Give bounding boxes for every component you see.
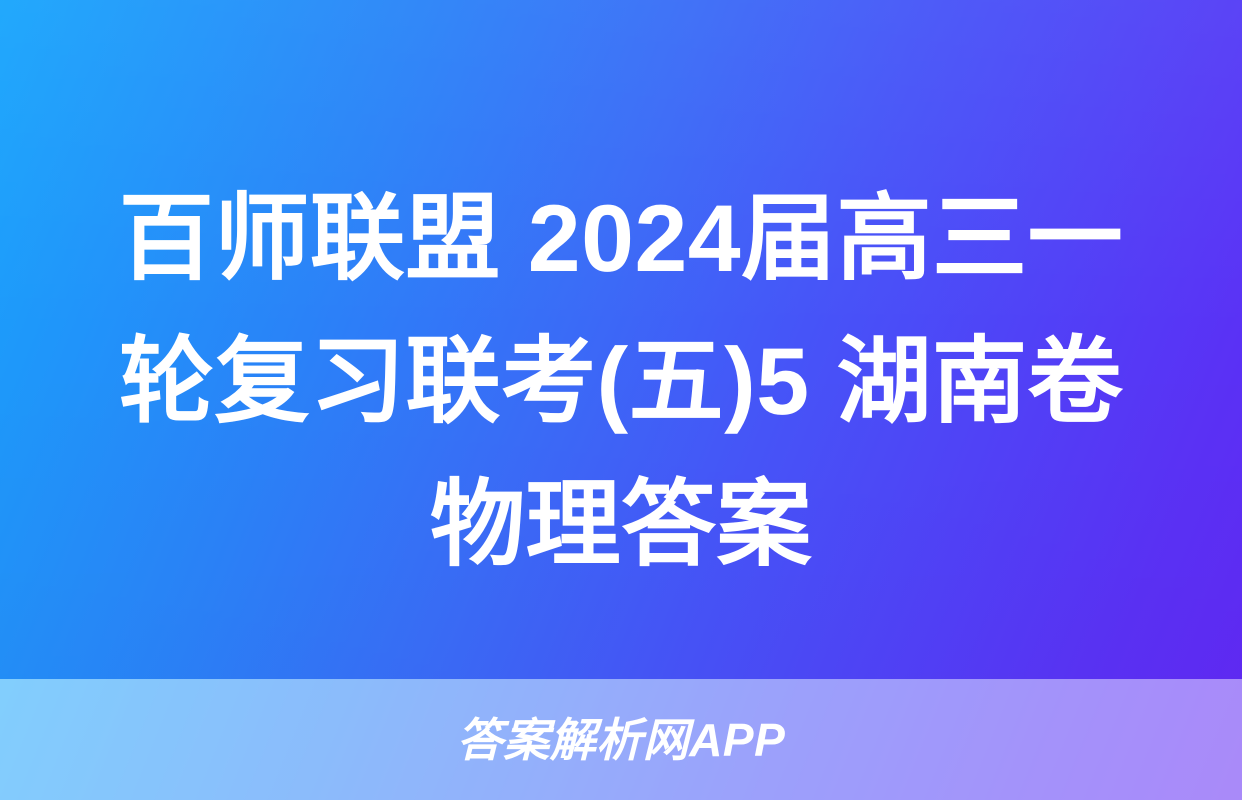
title-line-1: 百师联盟 2024届高三一 bbox=[14, 168, 1228, 311]
watermark-label: 答案解析网APP bbox=[0, 714, 1242, 766]
title-line-3: 物理答案 bbox=[14, 454, 1228, 597]
footer-watermark-band: 答案解析网APP bbox=[0, 679, 1242, 800]
page-title: 百师联盟 2024届高三一 轮复习联考(五)5 湖南卷 物理答案 bbox=[0, 168, 1242, 597]
title-line-2: 轮复习联考(五)5 湖南卷 bbox=[14, 311, 1228, 454]
promo-card: 百师联盟 2024届高三一 轮复习联考(五)5 湖南卷 物理答案 答案解析网AP… bbox=[0, 0, 1242, 800]
